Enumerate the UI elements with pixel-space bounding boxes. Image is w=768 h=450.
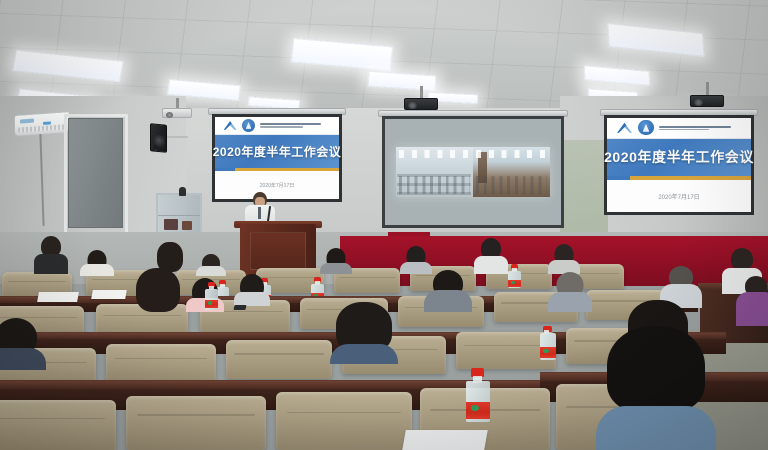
attendee xyxy=(736,276,768,326)
company-badge-logo-icon xyxy=(638,120,653,135)
slide-header xyxy=(607,118,751,139)
slide-header xyxy=(215,117,339,135)
slide-date: 2020年7月17日 xyxy=(260,182,294,189)
projector-mount xyxy=(706,82,709,96)
attendee-head xyxy=(731,248,753,270)
bottle-body xyxy=(466,381,490,422)
attendee-head xyxy=(136,268,180,312)
slide-title-band: 2020年度半年工作会议 xyxy=(215,135,339,168)
chair xyxy=(226,340,332,379)
right-slide: 2020年度半年工作会议 2020年7月17日 xyxy=(607,118,751,212)
projector-lens-icon xyxy=(694,99,703,106)
ac-vent xyxy=(18,124,66,132)
left-projection-screen[interactable]: 2020年度半年工作会议 2020年7月17日 xyxy=(212,114,342,202)
speaker-cone xyxy=(154,135,165,150)
attendee xyxy=(234,274,270,306)
remote-attendees xyxy=(399,176,470,194)
remote-room-b-feed xyxy=(473,147,550,198)
cabinet-item xyxy=(164,219,178,230)
attendee-body xyxy=(474,256,508,274)
attendee-body xyxy=(196,266,226,276)
attendee-body xyxy=(320,263,352,274)
projector-lens-icon xyxy=(408,102,417,109)
cabinet-item xyxy=(182,221,192,230)
air-conditioner-icon xyxy=(14,111,70,137)
chair xyxy=(126,396,266,450)
remote-ceiling-lights xyxy=(399,150,470,158)
projector-center xyxy=(404,98,438,110)
bottle-label xyxy=(540,347,556,358)
slide-footer: 2020年7月17日 xyxy=(607,180,751,212)
projector-lens-icon xyxy=(166,112,173,118)
attendee xyxy=(196,254,226,276)
projector-left xyxy=(162,108,192,118)
water-bottle xyxy=(540,326,556,360)
attendee-body xyxy=(424,290,472,312)
attendee-body xyxy=(548,292,592,312)
paper-document xyxy=(37,292,79,302)
attendee-body xyxy=(596,406,716,450)
attendee-foreground xyxy=(596,326,716,450)
attendee xyxy=(474,238,508,274)
bottle-label xyxy=(205,300,218,309)
wall-speaker-icon xyxy=(150,123,167,152)
cabinet-knob xyxy=(179,187,186,196)
attendee-body xyxy=(0,348,46,370)
attendee xyxy=(548,272,592,312)
speaker-bracket xyxy=(166,136,188,138)
window-blind xyxy=(68,118,123,228)
attendee-head xyxy=(607,326,705,412)
attendee xyxy=(80,250,114,276)
right-wall-green-panel xyxy=(560,140,608,245)
bottle-label xyxy=(508,280,521,287)
paper-document xyxy=(402,430,488,450)
company-badge-logo-icon xyxy=(242,119,255,132)
right-projection-screen[interactable]: 2020年度半年工作会议 2020年7月17日 xyxy=(604,115,754,215)
attendee xyxy=(548,244,580,274)
company-triangle-logo-icon xyxy=(222,119,237,131)
slide-title: 2020年度半年工作会议 xyxy=(213,143,341,160)
company-name-text xyxy=(260,123,332,128)
slide-title-band: 2020年度半年工作会议 xyxy=(607,139,751,177)
ac-brand-mark xyxy=(20,119,34,124)
attendee-body xyxy=(234,292,270,306)
projector-right xyxy=(690,95,724,107)
water-bottle xyxy=(205,282,218,310)
remote-room-a-feed xyxy=(396,147,473,198)
conference-room-photo: 2020年度半年工作会议 2020年7月17日 xyxy=(0,0,768,450)
chair xyxy=(276,392,412,450)
bottle-body xyxy=(508,271,521,288)
company-name-text xyxy=(659,126,743,131)
attendee xyxy=(34,236,68,274)
chair xyxy=(0,400,116,450)
remote-attendees xyxy=(476,176,547,194)
remote-ceiling-lights xyxy=(476,150,547,158)
attendee-body xyxy=(330,344,398,364)
water-bottle xyxy=(466,368,490,422)
slide-footer: 2020年7月17日 xyxy=(215,171,339,199)
paper-document xyxy=(91,290,127,299)
attendee xyxy=(132,268,184,314)
attendee-body xyxy=(34,254,68,274)
attendee xyxy=(330,302,398,364)
company-triangle-logo-icon xyxy=(616,121,634,135)
video-split-strip xyxy=(396,147,551,198)
attendee-body xyxy=(736,292,768,326)
water-bottle xyxy=(508,264,521,288)
left-slide: 2020年度半年工作会议 2020年7月17日 xyxy=(215,117,339,199)
video-conference-feed xyxy=(385,119,561,225)
center-projection-screen[interactable] xyxy=(382,116,564,228)
smartphone xyxy=(233,305,246,310)
bottle-label xyxy=(466,402,490,419)
chair xyxy=(106,344,216,384)
podium-front-panel xyxy=(250,232,306,270)
slide-date: 2020年7月17日 xyxy=(658,192,699,201)
attendee xyxy=(424,270,472,312)
bottle-body xyxy=(205,289,218,310)
attendee xyxy=(320,248,352,274)
presenter-lanyard xyxy=(258,207,261,219)
attendee xyxy=(0,318,46,370)
slide-title: 2020年度半年工作会议 xyxy=(604,147,754,167)
bottle-body xyxy=(540,333,556,360)
attendee-body xyxy=(80,264,114,276)
cabinet-shelf xyxy=(158,215,200,216)
